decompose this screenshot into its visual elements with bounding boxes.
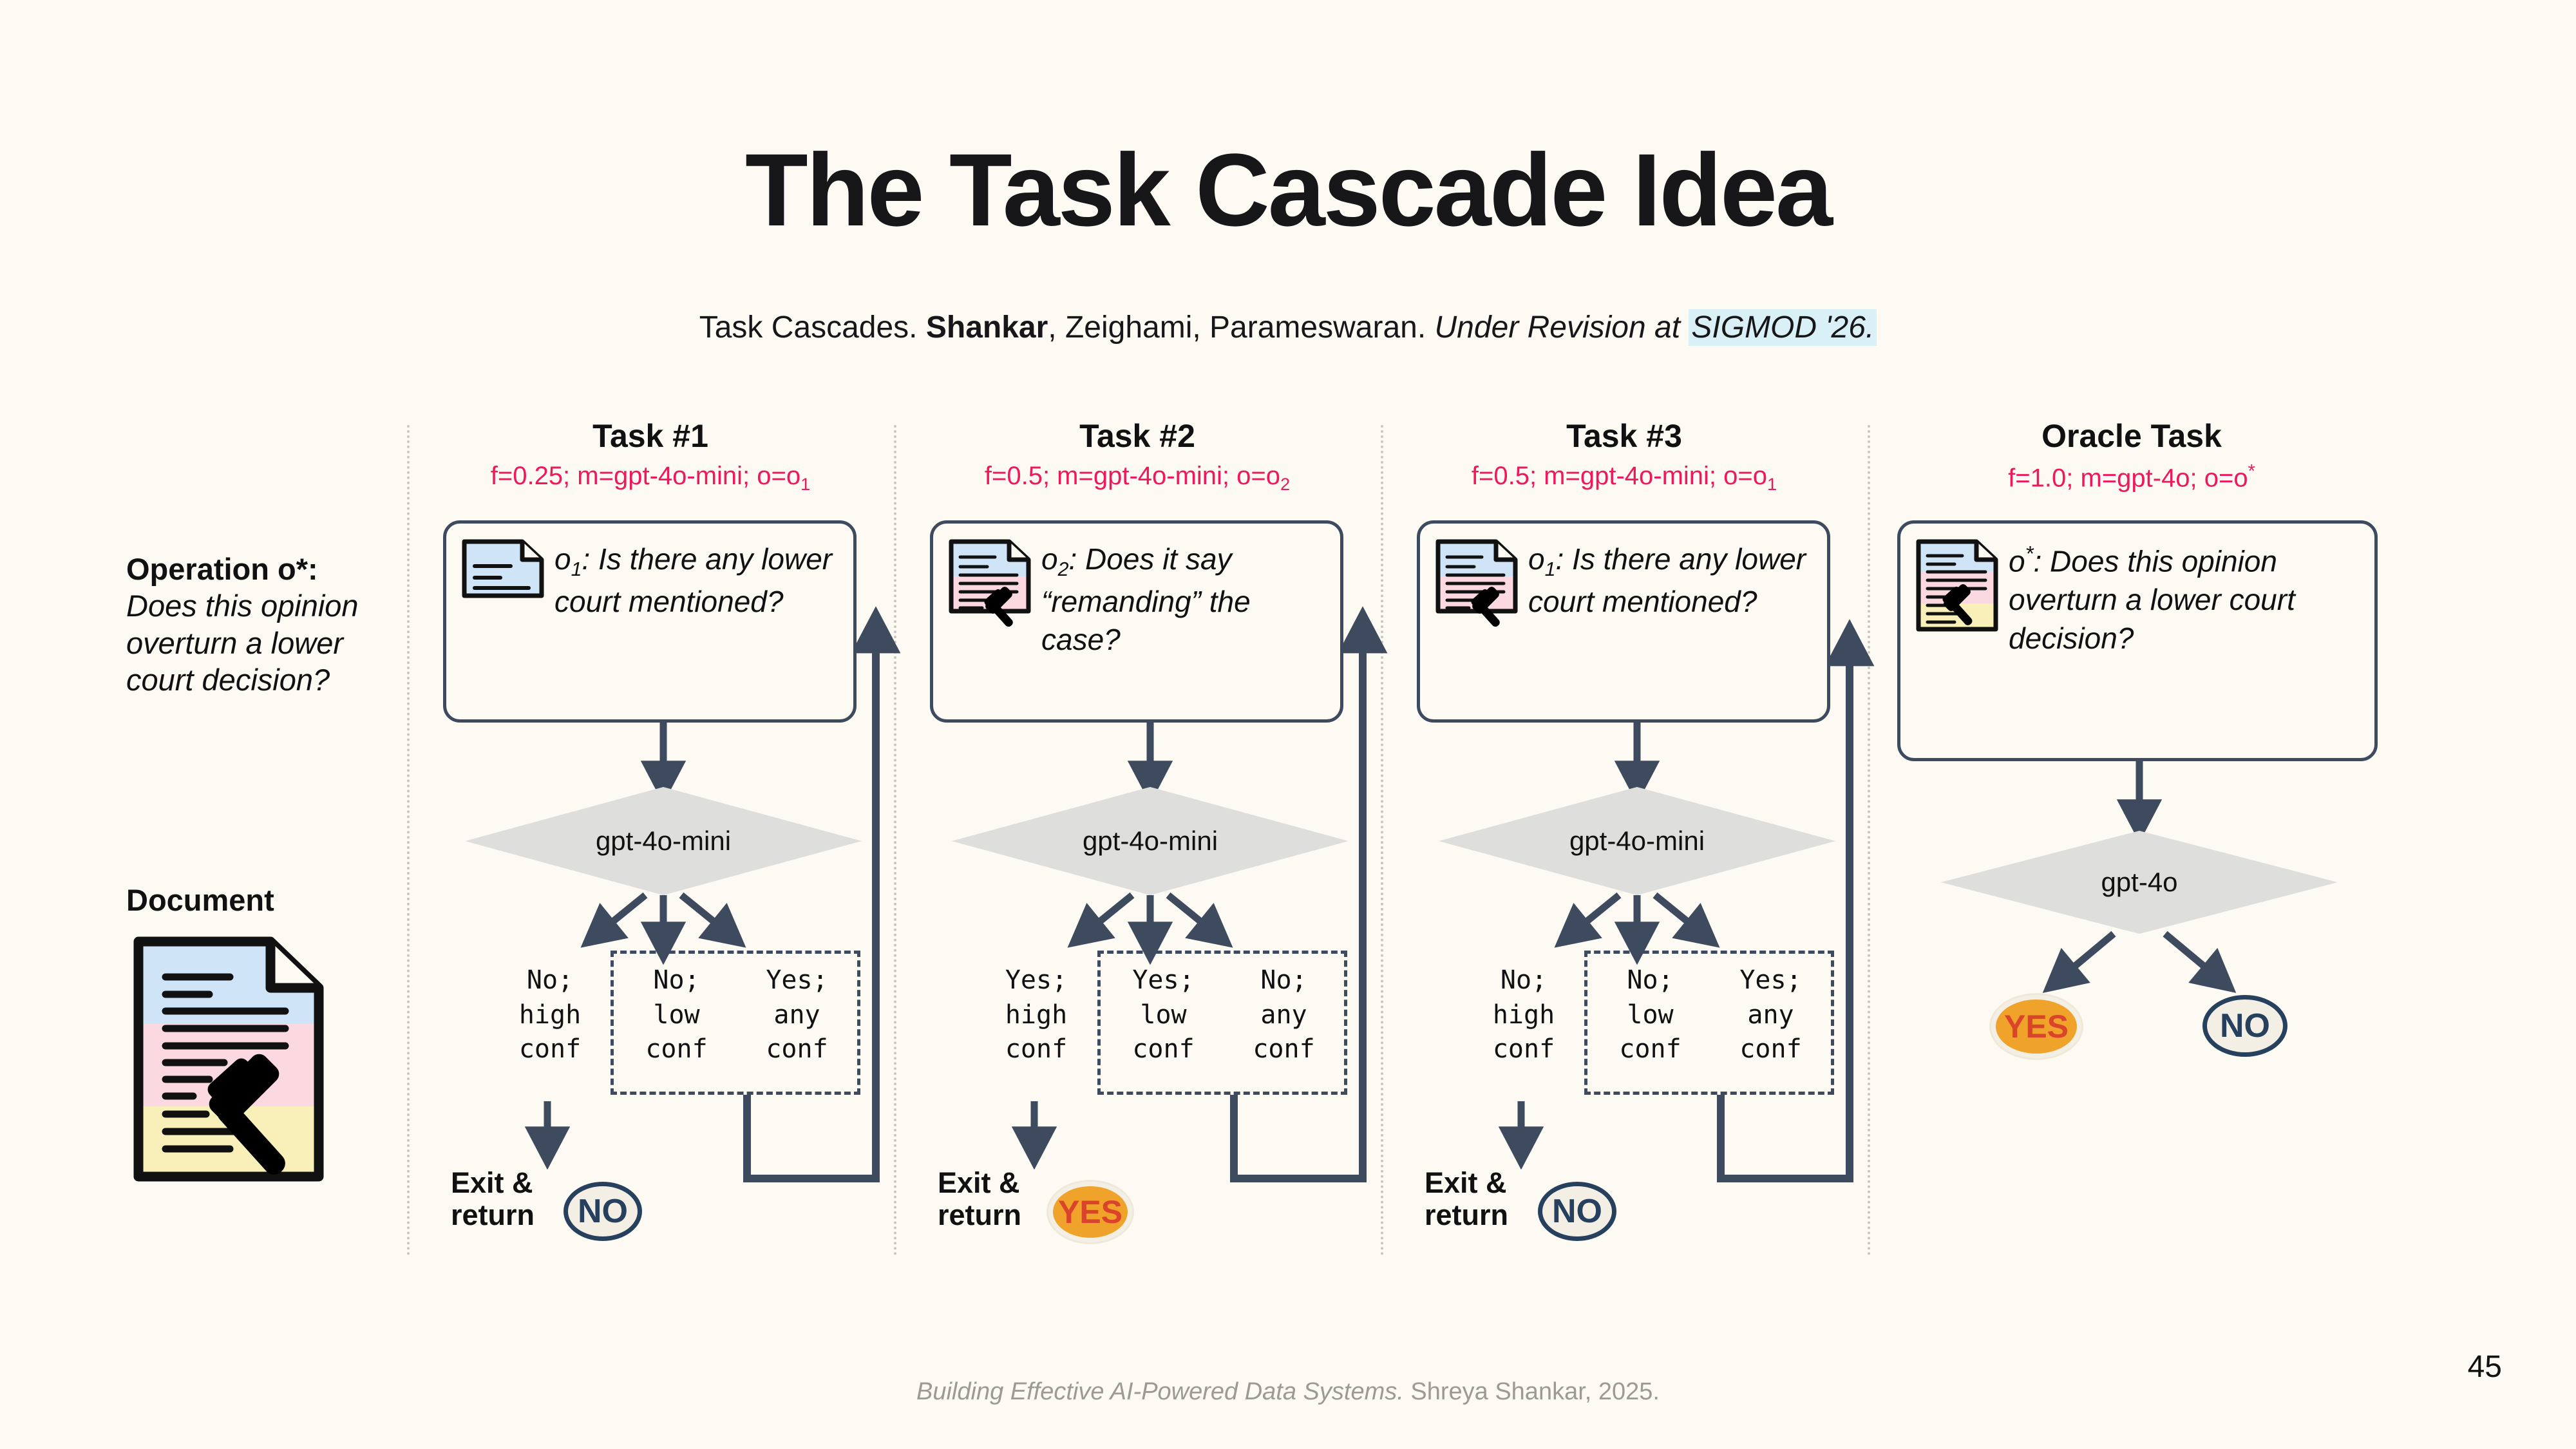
citation-subtitle: Task Cascades. Shankar, Zeighami, Parame… <box>0 309 2576 346</box>
task-1-outcome-1-l3: conf <box>645 1034 707 1064</box>
task-2-params: f=0.5; m=gpt-4o-mini; o=o2 <box>894 462 1381 494</box>
task-3-question-text: : Is there any lower court mentioned? <box>1528 542 1806 618</box>
task-2-question-text: : Does it say “remanding” the case? <box>1041 542 1251 656</box>
task-2-outcome-0-l1: Yes; <box>1005 965 1067 995</box>
task-1-outcome-0-l3: conf <box>519 1034 581 1064</box>
task-2-outcome-1-l1: Yes; <box>1132 965 1194 995</box>
task-1-model-label: gpt-4o-mini <box>596 826 731 857</box>
document-gavel-3band-icon <box>1915 538 2000 633</box>
task-1-param-o: o=o <box>750 462 800 490</box>
task-2-outcome-1-l3: conf <box>1132 1034 1194 1064</box>
task-3-outcome-0-l2: high <box>1493 1000 1555 1030</box>
slide-canvas: The Task Cascade Idea Task Cascades. Sha… <box>0 0 2576 1449</box>
oracle-model-diamond[interactable]: gpt-4o <box>1941 831 2338 934</box>
task-2-outcome-0-l2: high <box>1005 1000 1067 1030</box>
legal-document-icon <box>132 935 325 1183</box>
task-3-exit-l2: return <box>1425 1198 1508 1231</box>
task-2-outcome-2-l1: No; <box>1260 965 1307 995</box>
task-3-param-f: f=0.5; <box>1472 462 1537 490</box>
task-3-outcome-1-l1: No; <box>1627 965 1673 995</box>
task-3-title: Task #3 <box>1381 419 1868 454</box>
oracle-task-box[interactable]: o*: Does this opinion overturn a lower c… <box>1897 520 2378 761</box>
citation-bold-author: Shankar <box>926 310 1048 345</box>
operation-text: Does this opinion overturn a lower court… <box>126 587 397 698</box>
oracle-result-yes-text: YES <box>2004 1010 2069 1043</box>
task-3-model-label: gpt-4o-mini <box>1569 826 1705 857</box>
task-3-column: Task #3 f=0.5; m=gpt-4o-mini; o=o1 <box>1381 419 1868 494</box>
oracle-op-sup: * <box>2025 542 2034 566</box>
task-3-outcome-1-l2: low <box>1627 1000 1673 1030</box>
task-3-param-m: m=gpt-4o-mini; <box>1537 462 1716 490</box>
task-1-outcome-yes: Yes; any conf <box>737 963 857 1067</box>
task-2-model-label: gpt-4o-mini <box>1083 826 1218 857</box>
task-3-outcome-0-l3: conf <box>1493 1034 1555 1064</box>
task-2-outcome-1-l2: low <box>1140 1000 1186 1030</box>
task-1-param-f: f=0.25; <box>491 462 570 490</box>
document-plain-icon <box>460 538 545 600</box>
document-label: Document <box>126 882 274 918</box>
oracle-result-yes-badge: YES <box>1991 995 2081 1058</box>
task-3-outcome-exit: No; high conf <box>1470 963 1578 1067</box>
task-3-outcome-0-l1: No; <box>1501 965 1547 995</box>
oracle-question-text: : Does this opinion overturn a lower cou… <box>2009 544 2295 655</box>
task-1-exit-l1: Exit & <box>451 1166 533 1199</box>
task-3-outcome-lowconf: No; low conf <box>1591 963 1710 1067</box>
oracle-task-title: Oracle Task <box>1868 419 2396 454</box>
task-2-outcome-lowconf: Yes; low conf <box>1104 963 1223 1067</box>
oracle-task-params: f=1.0; m=gpt-4o; o=o* <box>1868 462 2396 492</box>
task-1-column: Task #1 f=0.25; m=gpt-4o-mini; o=o1 <box>407 419 894 494</box>
page-number: 45 <box>2468 1349 2502 1385</box>
task-1-outcome-1-l1: No; <box>653 965 699 995</box>
task-2-outcome-0-l3: conf <box>1005 1034 1067 1064</box>
footer-plain: Shreya Shankar, 2025. <box>1404 1378 1660 1405</box>
task-1-param-o-sub: 1 <box>800 474 810 494</box>
task-3-param-o-sub: 1 <box>1767 474 1777 494</box>
task-1-outcome-1-l2: low <box>653 1000 699 1030</box>
column-separator-1 <box>407 425 410 1256</box>
task-2-exit-l2: return <box>938 1198 1021 1231</box>
task-1-outcome-exit: No; high conf <box>496 963 604 1067</box>
oracle-param-f: f=1.0; <box>2008 464 2073 492</box>
task-1-outcome-2-l2: any <box>773 1000 820 1030</box>
task-3-params: f=0.5; m=gpt-4o-mini; o=o1 <box>1381 462 1868 494</box>
task-3-outcome-1-l3: conf <box>1619 1034 1681 1064</box>
task-1-question-text: : Is there any lower court mentioned? <box>554 542 832 618</box>
task-1-outcome-lowconf: No; low conf <box>617 963 736 1067</box>
task-2-param-o-sub: 2 <box>1280 474 1290 494</box>
task-3-op-sub: 1 <box>1545 559 1556 580</box>
task-3-question: o1: Is there any lower court mentioned? <box>1528 538 1814 621</box>
oracle-result-no-text: NO <box>2220 1009 2270 1043</box>
task-2-outcome-no: No; any conf <box>1224 963 1343 1067</box>
task-1-outcome-0-l1: No; <box>527 965 573 995</box>
operation-label: Operation o*: <box>126 551 397 587</box>
task-2-param-m: m=gpt-4o-mini; <box>1050 462 1229 490</box>
task-2-result-badge-text: YES <box>1058 1196 1122 1228</box>
footer-citation: Building Effective AI-Powered Data Syste… <box>0 1378 2576 1406</box>
oracle-param-m: m=gpt-4o; <box>2073 464 2197 492</box>
oracle-model-label: gpt-4o <box>2101 867 2177 898</box>
citation-prefix: Task Cascades. <box>699 310 926 345</box>
task-2-exit-l1: Exit & <box>938 1166 1020 1199</box>
task-1-result-badge-text: NO <box>578 1195 628 1228</box>
task-2-model-diamond[interactable]: gpt-4o-mini <box>952 787 1349 895</box>
task-3-outcome-2-l1: Yes; <box>1739 965 1801 995</box>
page-title: The Task Cascade Idea <box>0 138 2576 241</box>
oracle-result-no-badge: NO <box>2202 995 2287 1057</box>
task-1-result-badge: NO <box>563 1182 642 1241</box>
citation-authors: , Zeighami, Parameswaran. <box>1048 310 1434 345</box>
oracle-op-id: o <box>2009 544 2025 578</box>
oracle-param-o-sup: * <box>2248 461 2255 482</box>
task-1-outcome-0-l2: high <box>519 1000 581 1030</box>
operation-label-text: Operation o*: <box>126 552 318 586</box>
task-3-op-id: o <box>1528 542 1545 576</box>
task-2-param-o: o=o <box>1229 462 1280 490</box>
task-2-title: Task #2 <box>894 419 1381 454</box>
oracle-task-question: o*: Does this opinion overturn a lower c… <box>2009 538 2362 658</box>
task-3-result-badge-text: NO <box>1552 1195 1602 1228</box>
task-3-exit-l1: Exit & <box>1425 1166 1507 1199</box>
operation-description: Operation o*: Does this opinion overturn… <box>126 551 397 698</box>
task-3-model-diamond[interactable]: gpt-4o-mini <box>1439 787 1835 895</box>
oracle-param-o: o=o <box>2197 464 2248 492</box>
citation-venue: Under Revision at <box>1435 310 1689 345</box>
task-1-title: Task #1 <box>407 419 894 454</box>
task-1-model-diamond[interactable]: gpt-4o-mini <box>465 787 862 895</box>
footer-italic: Building Effective AI-Powered Data Syste… <box>916 1378 1404 1405</box>
task-2-column: Task #2 f=0.5; m=gpt-4o-mini; o=o2 <box>894 419 1381 494</box>
task-2-box[interactable]: o2: Does it say “remanding” the case? <box>930 520 1343 723</box>
citation-venue-highlight: SIGMOD '26. <box>1689 309 1877 346</box>
task-1-op-sub: 1 <box>571 559 582 580</box>
document-gavel-2band-icon <box>947 538 1032 615</box>
task-1-outcome-2-l3: conf <box>766 1034 828 1064</box>
task-3-param-o: o=o <box>1716 462 1767 490</box>
task-3-outcome-2-l3: conf <box>1739 1034 1801 1064</box>
task-2-result-badge: YES <box>1048 1182 1132 1242</box>
column-separator-2 <box>894 425 896 1256</box>
task-3-outcome-2-l2: any <box>1747 1000 1794 1030</box>
task-1-op-id: o <box>554 542 571 576</box>
task-2-op-id: o <box>1041 542 1058 576</box>
task-1-outcome-2-l1: Yes; <box>766 965 828 995</box>
task-3-result-badge: NO <box>1538 1182 1616 1241</box>
task-1-box[interactable]: o1: Is there any lower court mentioned? <box>443 520 857 723</box>
task-2-op-sub: 2 <box>1058 559 1069 580</box>
task-2-outcome-exit: Yes; high conf <box>979 963 1094 1067</box>
task-2-param-f: f=0.5; <box>985 462 1050 490</box>
task-2-outcome-2-l3: conf <box>1253 1034 1314 1064</box>
document-gavel-2band-icon <box>1434 538 1519 615</box>
column-separator-3 <box>1381 425 1383 1256</box>
task-3-box[interactable]: o1: Is there any lower court mentioned? <box>1417 520 1830 723</box>
task-1-exit-l2: return <box>451 1198 535 1231</box>
task-1-params: f=0.25; m=gpt-4o-mini; o=o1 <box>407 462 894 494</box>
task-3-outcome-yes: Yes; any conf <box>1711 963 1830 1067</box>
oracle-task-column: Oracle Task f=1.0; m=gpt-4o; o=o* <box>1868 419 2396 492</box>
task-1-param-m: m=gpt-4o-mini; <box>570 462 750 490</box>
task-2-outcome-2-l2: any <box>1260 1000 1307 1030</box>
task-2-question: o2: Does it say “remanding” the case? <box>1041 538 1327 659</box>
column-separator-4 <box>1868 425 1870 1256</box>
task-1-question: o1: Is there any lower court mentioned? <box>554 538 840 621</box>
